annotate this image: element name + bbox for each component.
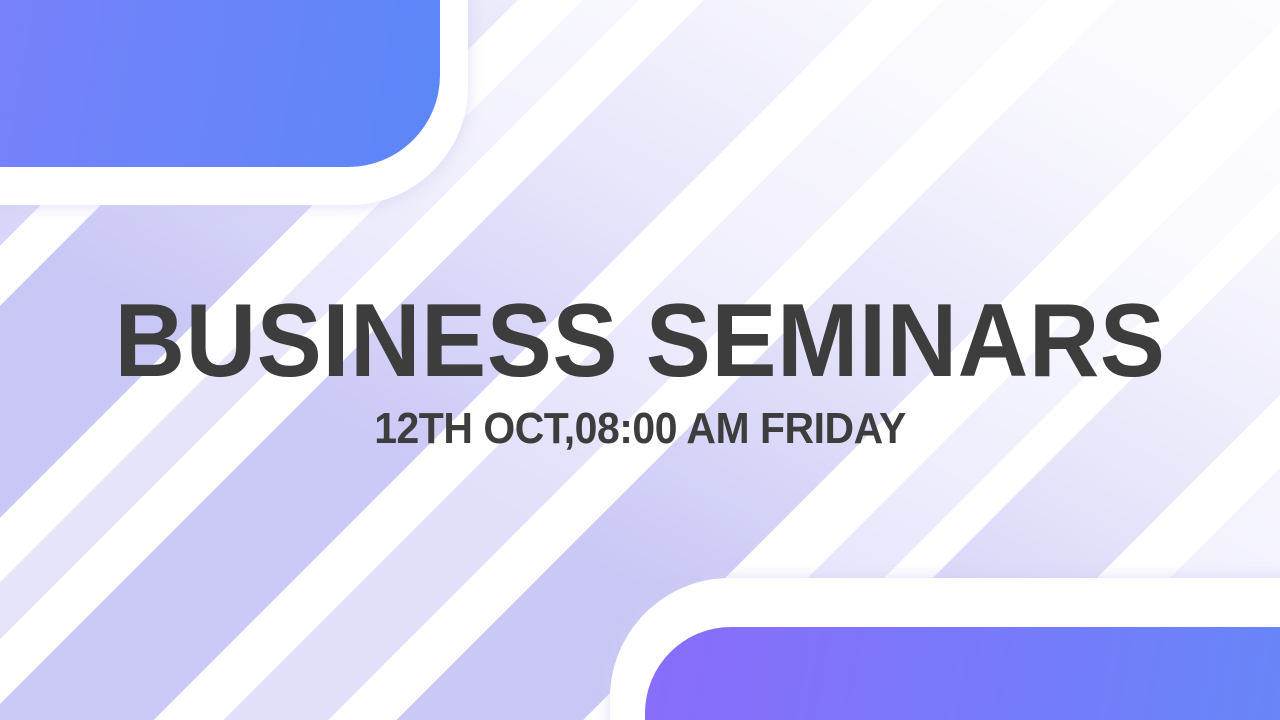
bottom-right-rounded-block <box>645 627 1280 720</box>
top-left-rounded-block <box>0 0 440 167</box>
poster-text-block: BUSINESS SEMINARS 12TH OCT,08:00 AM FRID… <box>0 288 1280 452</box>
poster-title: BUSINESS SEMINARS <box>38 288 1241 394</box>
event-poster: BUSINESS SEMINARS 12TH OCT,08:00 AM FRID… <box>0 0 1280 720</box>
poster-subtitle-datetime: 12TH OCT,08:00 AM FRIDAY <box>45 406 1235 452</box>
